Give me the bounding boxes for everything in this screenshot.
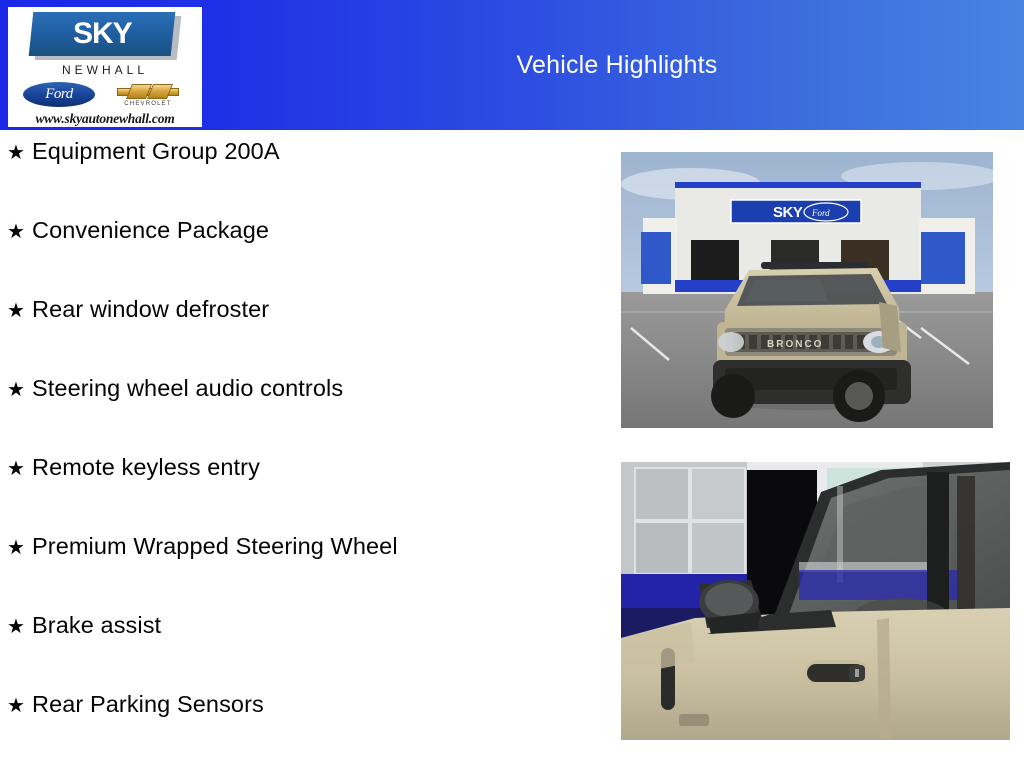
star-icon: ★ [0, 301, 32, 321]
svg-text:SKY: SKY [773, 204, 803, 221]
sky-plate: SKY [29, 12, 176, 56]
vehicle-photo-exterior-front[interactable]: SKY Ford BRONCO [621, 152, 993, 428]
list-item: ★ Rear Parking Sensors [0, 691, 600, 770]
vehicle-highlights-list: ★ Equipment Group 200A ★ Convenience Pac… [0, 138, 600, 770]
sky-wordmark: SKY [73, 19, 132, 49]
list-item: ★ Equipment Group 200A [0, 138, 600, 217]
svg-text:BRONCO: BRONCO [767, 339, 823, 350]
list-item-label: Rear window defroster [32, 296, 269, 323]
star-icon: ★ [0, 538, 32, 558]
star-icon: ★ [0, 222, 32, 242]
list-item-label: Premium Wrapped Steering Wheel [32, 533, 398, 560]
list-item: ★ Premium Wrapped Steering Wheel [0, 533, 600, 612]
franchise-badges: Ford CHEVROLET [16, 80, 194, 109]
list-item: ★ Brake assist [0, 612, 600, 691]
star-icon: ★ [0, 696, 32, 716]
chevrolet-wordmark: CHEVROLET [124, 101, 171, 107]
vehicle-photo-door-detail[interactable] [621, 462, 1010, 740]
list-item-label: Steering wheel audio controls [32, 375, 343, 402]
dealer-website-url[interactable]: www.skyautonewhall.com [35, 111, 174, 127]
dealer-location-label: NEWHALL [62, 63, 148, 77]
ford-oval-icon: Ford [22, 81, 96, 108]
list-item: ★ Steering wheel audio controls [0, 375, 600, 454]
star-icon: ★ [0, 143, 32, 163]
list-item: ★ Remote keyless entry [0, 454, 600, 533]
ford-wordmark: Ford [45, 86, 72, 103]
star-icon: ★ [0, 380, 32, 400]
star-icon: ★ [0, 617, 32, 637]
chevrolet-badge: CHEVROLET [108, 83, 188, 107]
page-title: Vehicle Highlights [210, 0, 1024, 130]
list-item-label: Equipment Group 200A [32, 138, 280, 165]
exterior-front-illustration: SKY Ford BRONCO [621, 152, 993, 428]
list-item-label: Remote keyless entry [32, 454, 260, 481]
dealer-logo-card[interactable]: SKY NEWHALL Ford CHEVROLET www.skyautone… [8, 7, 202, 127]
sky-logo-mark: SKY [31, 12, 179, 60]
star-icon: ★ [0, 459, 32, 479]
chevrolet-bowtie-icon [117, 83, 179, 100]
door-detail-illustration [621, 462, 1010, 740]
list-item-label: Rear Parking Sensors [32, 691, 264, 718]
list-item: ★ Convenience Package [0, 217, 600, 296]
list-item: ★ Rear window defroster [0, 296, 600, 375]
svg-text:Ford: Ford [811, 208, 830, 218]
list-item-label: Convenience Package [32, 217, 269, 244]
list-item-label: Brake assist [32, 612, 161, 639]
